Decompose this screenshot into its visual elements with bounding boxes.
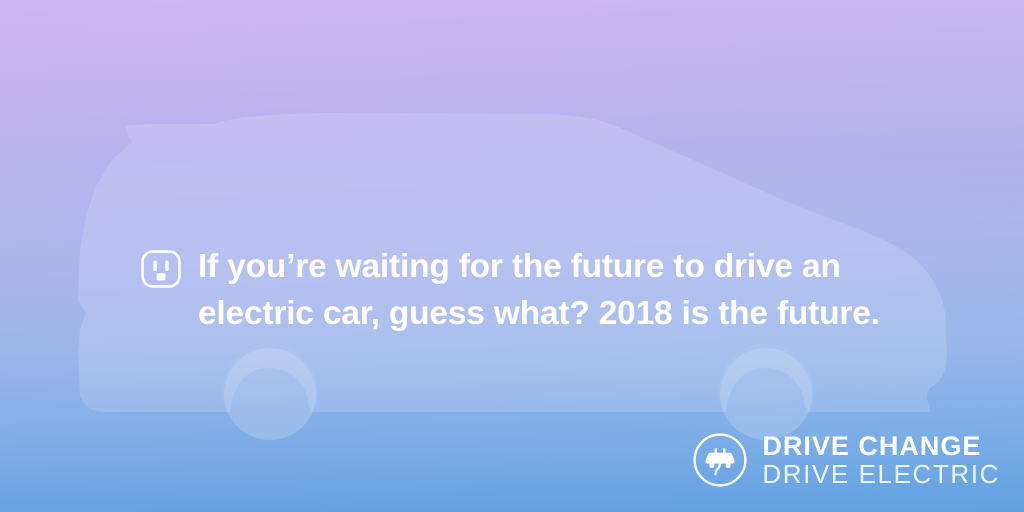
headline-block: If you’re waiting for the future to driv…: [140, 243, 930, 337]
power-outlet-icon: [140, 249, 182, 289]
brand-logo[interactable]: DRIVE CHANGE DRIVE ELECTRIC: [692, 432, 1000, 488]
logo-wordmark: DRIVE CHANGE DRIVE ELECTRIC: [762, 432, 1000, 488]
drive-change-circle-car-plug-icon: [692, 432, 748, 488]
logo-secondary-text: DRIVE ELECTRIC: [762, 460, 1000, 488]
graphic-canvas: If you’re waiting for the future to driv…: [0, 0, 1024, 512]
headline-text: If you’re waiting for the future to driv…: [198, 243, 880, 337]
logo-primary-text: DRIVE CHANGE: [762, 432, 1000, 460]
